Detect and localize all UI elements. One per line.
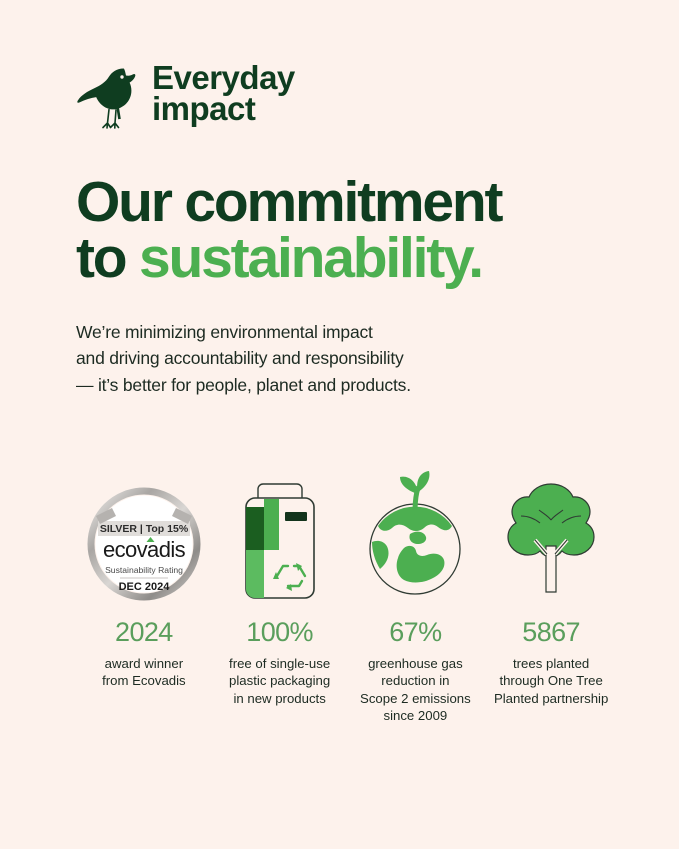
- badge-date-text: DEC 2024: [118, 581, 170, 593]
- stat-caption: free of single-use plastic packaging in …: [212, 655, 348, 707]
- tree-icon: [499, 474, 603, 602]
- stats-row: SILVER | Top 15% ecovadis Sustainability…: [76, 462, 619, 725]
- stat-value: 100%: [212, 619, 348, 646]
- stat-icon-wrap: [348, 462, 484, 602]
- headline-line-1: Our commitment: [76, 175, 603, 231]
- stat-value: 5867: [483, 619, 619, 646]
- stat-icon-wrap: [212, 462, 348, 602]
- stat-icon-wrap: [483, 462, 619, 602]
- caption-line: greenhouse gas: [348, 655, 484, 672]
- stat-ecovadis-award: SILVER | Top 15% ecovadis Sustainability…: [76, 462, 212, 690]
- caption-line: from Ecovadis: [76, 672, 212, 689]
- stat-caption: trees planted through One Tree Planted p…: [483, 655, 619, 707]
- caption-line: through One Tree: [483, 672, 619, 689]
- stat-icon-wrap: SILVER | Top 15% ecovadis Sustainability…: [76, 462, 212, 602]
- globe-sprout-icon: [360, 464, 470, 602]
- logo-line-2: impact: [152, 94, 295, 125]
- stat-emissions-reduction: 67% greenhouse gas reduction in Scope 2 …: [348, 462, 484, 725]
- caption-line: Scope 2 emissions: [348, 690, 484, 707]
- bird-icon: [76, 58, 138, 130]
- intro-paragraph: We’re minimizing environmental impact an…: [76, 319, 603, 399]
- logo-wordmark: Everyday impact: [152, 63, 295, 124]
- stat-value: 67%: [348, 619, 484, 646]
- badge-subtitle-text: Sustainability Rating: [105, 565, 183, 575]
- stat-caption: greenhouse gas reduction in Scope 2 emis…: [348, 655, 484, 725]
- body-line-1: We’re minimizing environmental impact: [76, 319, 603, 346]
- headline-line-2: to sustainability.: [76, 231, 603, 287]
- stat-value: 2024: [76, 619, 212, 646]
- stat-caption: award winner from Ecovadis: [76, 655, 212, 690]
- body-line-3: — it’s better for people, planet and pro…: [76, 372, 603, 399]
- recyclable-packaging-icon: [232, 480, 328, 602]
- caption-line: reduction in: [348, 672, 484, 689]
- caption-line: Planted partnership: [483, 690, 619, 707]
- caption-line: plastic packaging: [212, 672, 348, 689]
- body-line-2: and driving accountability and responsib…: [76, 345, 603, 372]
- caption-line: trees planted: [483, 655, 619, 672]
- headline-prefix: to: [76, 226, 139, 290]
- stat-trees-planted: 5867 trees planted through One Tree Plan…: [483, 462, 619, 707]
- caption-line: since 2009: [348, 707, 484, 724]
- caption-line: award winner: [76, 655, 212, 672]
- badge-brand-text: ecovadis: [103, 537, 186, 562]
- brand-logo: Everyday impact: [76, 0, 603, 130]
- stat-plastic-free-packaging: 100% free of single-use plastic packagin…: [212, 462, 348, 707]
- ecovadis-medal-icon: SILVER | Top 15% ecovadis Sustainability…: [86, 486, 202, 602]
- headline-accent: sustainability.: [139, 226, 482, 290]
- caption-line: in new products: [212, 690, 348, 707]
- badge-tier-text: SILVER | Top 15%: [100, 523, 189, 535]
- caption-line: free of single-use: [212, 655, 348, 672]
- sustainability-infographic: Everyday impact Our commitment to sustai…: [0, 0, 679, 849]
- page-title: Our commitment to sustainability.: [76, 175, 603, 287]
